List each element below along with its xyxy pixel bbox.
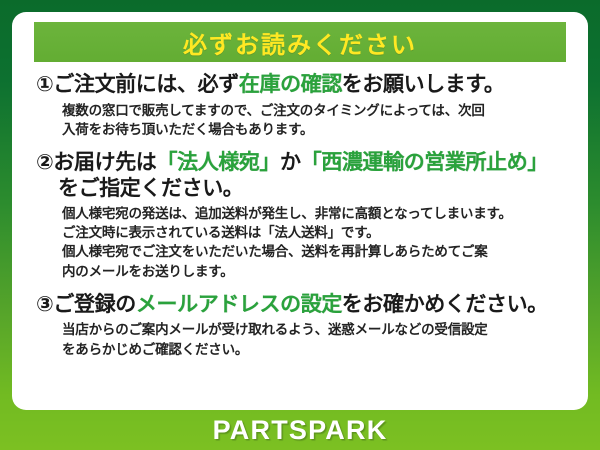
brand-name: PARTSPARK: [213, 415, 388, 446]
notice-item-3-subtext: 当店からのご案内メールが受け取れるよう、迷惑メールなどの受信設定 をあらかじめご…: [36, 320, 564, 358]
notice-item-1: ①ご注文前には、必ず在庫の確認をお願いします。 複数の窓口で販売してますので、ご…: [36, 72, 564, 139]
notice-item-2: ②お届け先は「法人様宛」か「西濃運輸の営業所止め」 をご指定ください。 個人様宅…: [36, 150, 564, 281]
notice-item-2-subtext: 個人様宅宛の発送は、追加送料が発生し、非常に高額となってしまいます。 ご注文時に…: [36, 204, 564, 281]
notice-item-3-heading-part-1: ご登録の: [53, 293, 135, 316]
notice-item-3-heading-highlight: メールアドレスの設定: [136, 293, 342, 316]
notice-item-2-heading-highlight-2: 「西濃運輸の営業所止め」: [301, 151, 548, 174]
notice-item-3-heading-part-3: をお確かめください。: [342, 293, 548, 316]
notice-item-2-subtext-line-2: ご注文時に表示されている送料は「法人送料」です。: [62, 223, 564, 242]
notice-item-1-heading-highlight: 在庫の確認: [239, 73, 342, 96]
notice-item-1-heading: ①ご注文前には、必ず在庫の確認をお願いします。: [36, 72, 564, 98]
notice-body: ①ご注文前には、必ず在庫の確認をお願いします。 複数の窓口で販売してますので、ご…: [22, 62, 578, 359]
notice-item-2-heading-line-2: をご指定ください。: [36, 176, 564, 202]
notice-item-2-subtext-line-3: 個人様宅宛でご注文をいただいた場合、送料を再計算しあらためてご案: [62, 242, 564, 261]
notice-item-2-number: ②: [36, 151, 53, 174]
notice-item-2-heading-highlight-1: 「法人様宛」: [156, 151, 280, 174]
brand-footer: PARTSPARK: [0, 410, 600, 450]
notice-item-1-subtext-line-1: 複数の窓口で販売してますので、ご注文のタイミングによっては、次回: [62, 101, 564, 120]
notice-item-3: ③ご登録のメールアドレスの設定をお確かめください。 当店からのご案内メールが受け…: [36, 292, 564, 359]
notice-item-3-subtext-line-1: 当店からのご案内メールが受け取れるよう、迷惑メールなどの受信設定: [62, 320, 564, 339]
notice-header-title: 必ずお読みください: [183, 25, 417, 60]
notice-item-3-subtext-line-2: をあらかじめご確認ください。: [62, 340, 564, 359]
notice-item-1-number: ①: [36, 73, 53, 96]
notice-item-3-number: ③: [36, 293, 53, 316]
notice-item-1-subtext: 複数の窓口で販売してますので、ご注文のタイミングによっては、次回 入荷をお待ち頂…: [36, 101, 564, 139]
notice-item-2-heading-part-1: お届け先は: [53, 151, 156, 174]
notice-header-bar: 必ずお読みください: [34, 22, 566, 62]
notice-card: 必ずお読みください ①ご注文前には、必ず在庫の確認をお願いします。 複数の窓口で…: [12, 12, 588, 410]
notice-item-2-subtext-line-4: 内のメールをお送りします。: [62, 262, 564, 281]
notice-item-1-subtext-line-2: 入荷をお待ち頂いただく場合もあります。: [62, 120, 564, 139]
notice-item-3-heading: ③ご登録のメールアドレスの設定をお確かめください。: [36, 292, 564, 318]
notice-item-2-heading: ②お届け先は「法人様宛」か「西濃運輸の営業所止め」: [36, 150, 564, 176]
notice-item-2-heading-part-3: か: [280, 151, 301, 174]
notice-item-1-heading-part-3: をお願いします。: [342, 73, 505, 96]
notice-item-2-subtext-line-1: 個人様宅宛の発送は、追加送料が発生し、非常に高額となってしまいます。: [62, 204, 564, 223]
notice-item-1-heading-part-1: ご注文前には、必ず: [53, 73, 238, 96]
notice-banner: 必ずお読みください ①ご注文前には、必ず在庫の確認をお願いします。 複数の窓口で…: [0, 0, 600, 450]
